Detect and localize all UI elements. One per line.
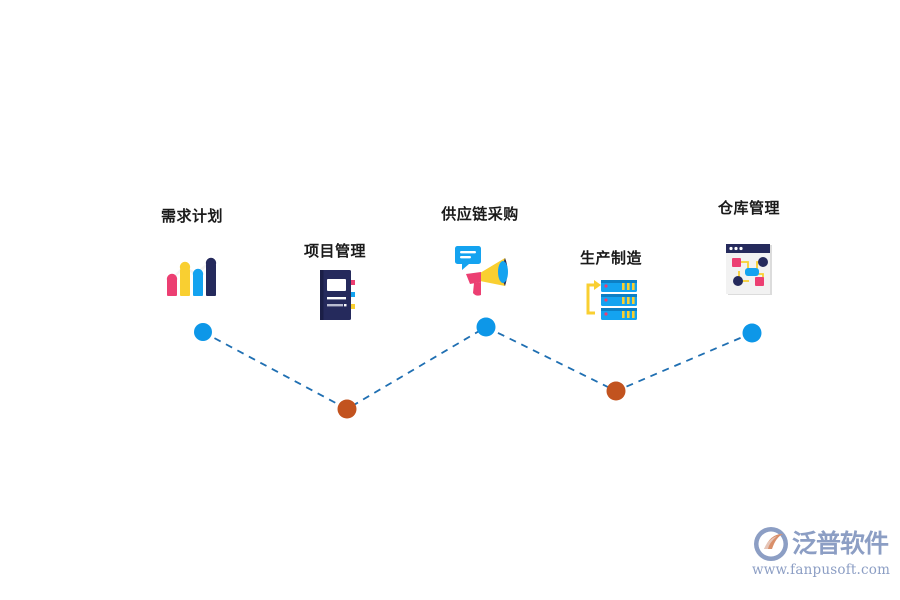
zigzag-path (203, 327, 752, 409)
watermark-brand-row: 泛普软件 (752, 524, 888, 564)
node-label-project-management: 项目管理 (304, 240, 366, 261)
node-label-demand-planning: 需求计划 (161, 205, 223, 226)
megaphone-icon (453, 243, 515, 304)
watermark-brand-text: 泛普软件 (792, 525, 888, 563)
watermark-url: www.fanpusoft.com (752, 562, 888, 578)
data-point-project-management[interactable] (338, 400, 357, 419)
flowchart-window-icon (725, 243, 777, 302)
server-rack-icon (582, 277, 640, 328)
data-point-supply-chain-procurement[interactable] (477, 318, 496, 337)
data-point-warehouse-management[interactable] (743, 324, 762, 343)
node-label-supply-chain-procurement: 供应链采购 (441, 203, 519, 224)
data-point-demand-planning[interactable] (194, 323, 212, 341)
watermark: 泛普软件 www.fanpusoft.com (752, 524, 888, 586)
diagram-canvas: 需求计划 项目管理 (0, 0, 900, 600)
bar-chart-icon (164, 250, 220, 305)
node-label-warehouse-management: 仓库管理 (718, 197, 780, 218)
fanpu-logo-icon (752, 525, 790, 563)
data-point-production-manufacturing[interactable] (607, 382, 626, 401)
notebook-icon (313, 268, 361, 327)
node-label-production-manufacturing: 生产制造 (580, 247, 642, 268)
